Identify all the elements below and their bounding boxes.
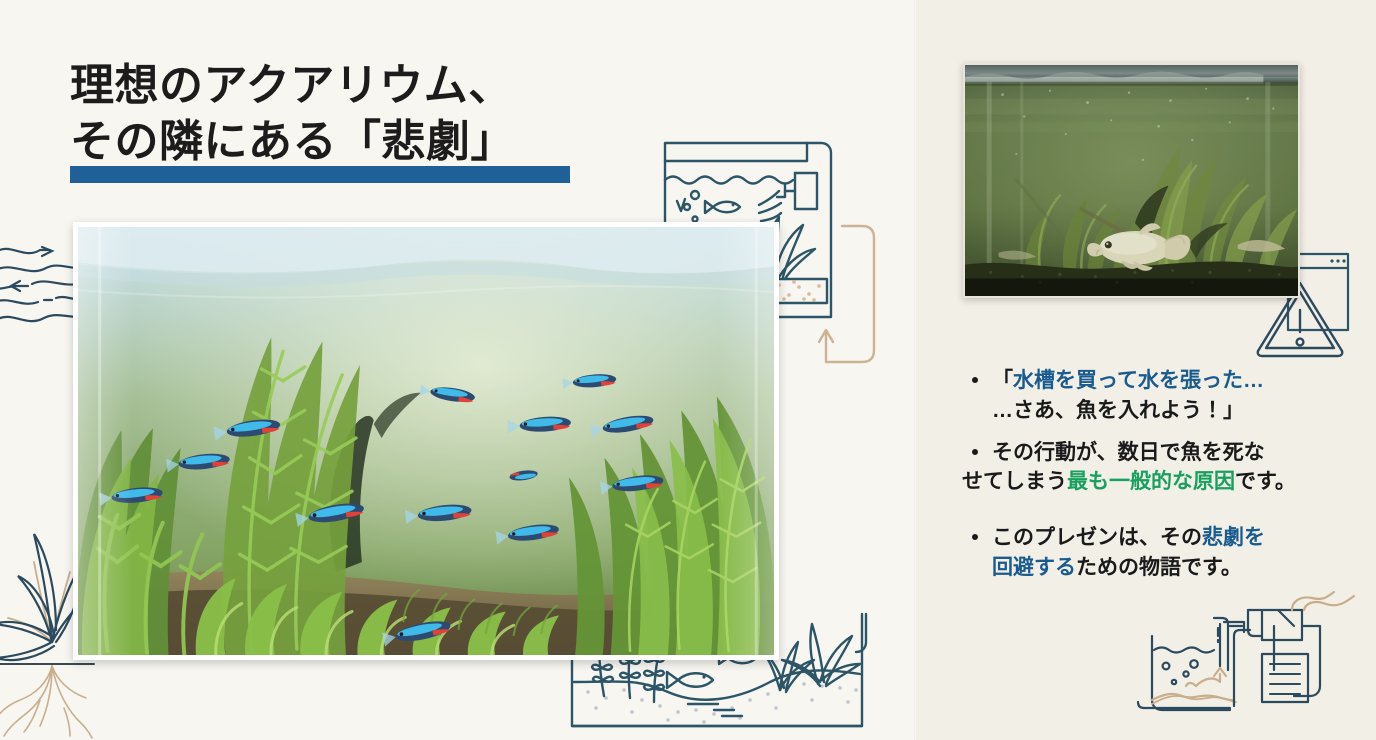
presentation-slide: 理想のアクアリウム、 その隣にある「悲劇」	[0, 0, 1376, 740]
bullet-list: 「水槽を買って水を張った… …さあ、魚を入れよう！」 その行動が、数日で魚を死な…	[962, 366, 1362, 583]
bullet-1-line-2: …さあ、魚を入れよう！」	[962, 396, 1362, 426]
bullet-3-post-text: ための物語です。	[1076, 556, 1242, 579]
panel-divider	[914, 0, 917, 740]
bullet-1-line-1: 「水槽を買って水を張った…	[962, 366, 1362, 396]
murky-aquarium-photo	[963, 63, 1300, 298]
bullet-2-line-2: せてしまう最も一般的な原因です。	[962, 467, 1362, 497]
bullet-2-pre-text: せてしまう	[962, 470, 1067, 493]
bullet-3-blue-text-a: 悲劇を	[1202, 526, 1265, 549]
bullet-3-line-1: このプレゼンは、その悲劇を	[962, 523, 1362, 553]
bullet-3-line-2: 回避するための物語です。	[962, 553, 1362, 583]
title-line-2: その隣にある「悲劇」	[70, 114, 670, 170]
bullet-3-blue-text-b: 回避する	[992, 556, 1076, 579]
hero-aquarium-photo	[73, 222, 779, 660]
bullet-2-green-text: 最も一般的な原因	[1067, 470, 1235, 493]
bullet-2-post-text: です。	[1235, 470, 1296, 493]
bullet-dot	[972, 377, 978, 383]
bullet-1-prefix: 「	[992, 369, 1013, 392]
murky-aquarium-illustration	[965, 65, 1298, 297]
list-item: その行動が、数日で魚を死な せてしまう最も一般的な原因です。	[962, 438, 1362, 498]
bullet-1-blue-text: 水槽を買って水を張った…	[1013, 369, 1264, 392]
title-underline-bar	[70, 166, 570, 183]
list-item: 「水槽を買って水を張った… …さあ、魚を入れよう！」	[962, 366, 1362, 426]
list-item: このプレゼンは、その悲劇を 回避するための物語です。	[962, 523, 1362, 583]
title-line-1: 理想のアクアリウム、	[70, 58, 670, 114]
bullet-3-pre-text: このプレゼンは、その	[992, 526, 1202, 549]
hero-aquarium-illustration	[78, 227, 774, 659]
bullet-dot	[972, 449, 978, 455]
bullet-2-line-1: その行動が、数日で魚を死な	[962, 438, 1362, 468]
page-title: 理想のアクアリウム、 その隣にある「悲劇」	[70, 58, 670, 171]
